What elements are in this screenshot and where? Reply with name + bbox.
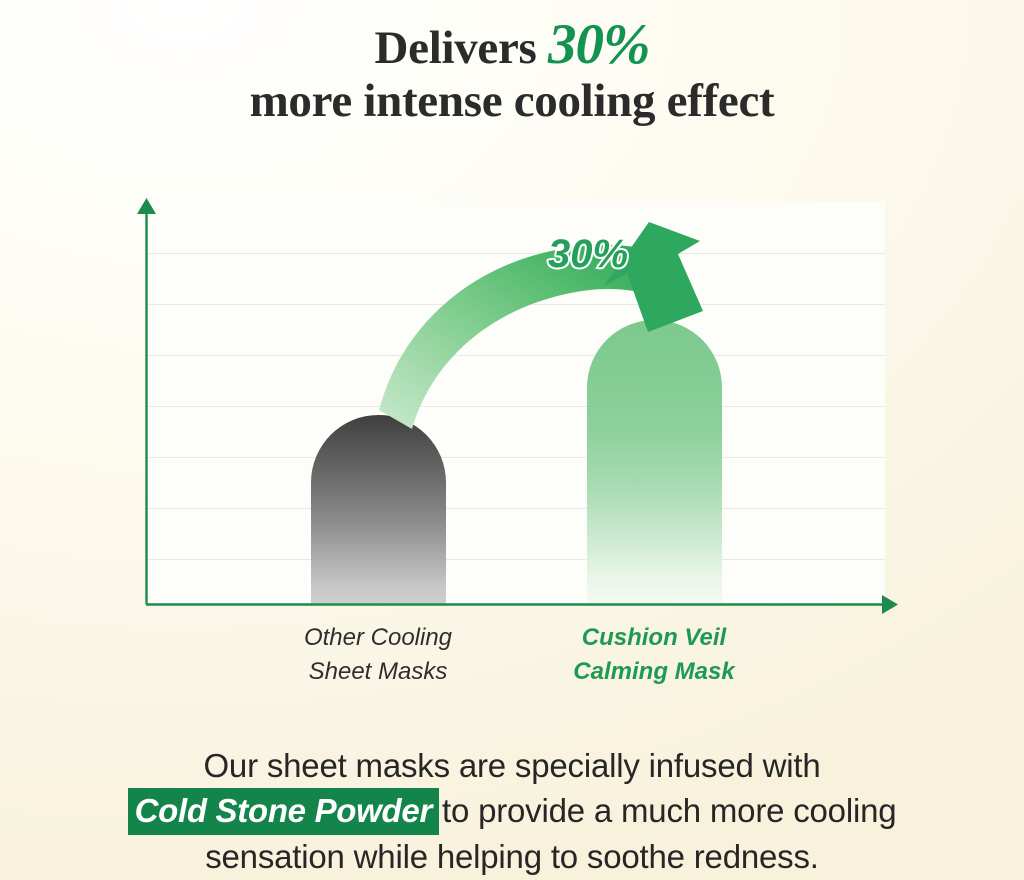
footer-line-3: sensation while helping to soothe rednes… [0,835,1024,879]
axis-label-line-2: Calming Mask [573,658,734,685]
infographic-canvas: Delivers 30% more intense cooling effect [0,0,1024,880]
growth-curve-arrow-icon [0,0,1024,720]
axis-label-line-1: Other Cooling [304,624,452,651]
axis-label-line-2: Sheet Masks [309,658,448,685]
x-axis-label-other-cooling-sheet-masks: Other CoolingSheet Masks [248,621,508,689]
footer-description: Our sheet masks are specially infused wi… [0,744,1024,879]
footer-line-2-rest: to provide a much more cooling [442,792,896,829]
x-axis-label-cushion-veil-calming-mask: Cushion VeilCalming Mask [524,621,784,689]
axis-label-line-1: Cushion Veil [582,624,726,651]
footer-line-2: Cold Stone Powderto provide a much more … [0,788,1024,836]
comparison-bar-chart: 30% Other CoolingSheet Masks Cushion Vei… [0,0,1024,720]
footer-line-1: Our sheet masks are specially infused wi… [0,744,1024,788]
cold-stone-powder-highlight: Cold Stone Powder [128,788,439,836]
percent-callout-label: 30% [548,232,628,277]
